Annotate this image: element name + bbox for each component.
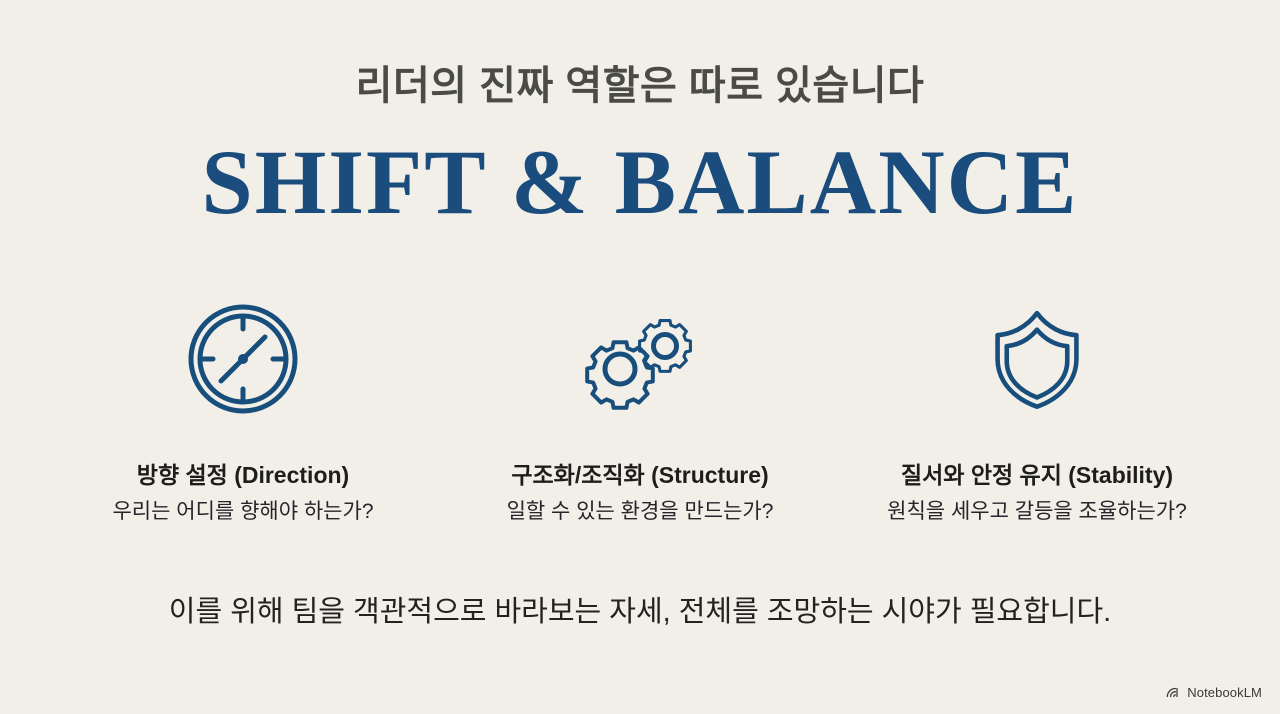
notebooklm-watermark: NotebookLM	[1165, 685, 1262, 700]
pillar-subtitle: 일할 수 있는 환경을 만드는가?	[507, 499, 774, 525]
slide-eyebrow: 리더의 진짜 역할은 따로 있습니다	[0, 62, 1280, 110]
pillar-stability: 질서와 안정 유지 (Stability) 원칙을 세우고 갈등을 조율하는가?	[854, 300, 1220, 525]
gears-icon	[570, 300, 710, 418]
pillar-row: 방향 설정 (Direction) 우리는 어디를 향해야 하는가?	[60, 300, 1220, 540]
pillar-title: 방향 설정 (Direction)	[137, 461, 349, 490]
slide-closing-statement: 이를 위해 팀을 객관적으로 바라보는 자세, 전체를 조망하는 시야가 필요합…	[0, 594, 1280, 632]
shield-icon	[982, 300, 1092, 418]
pillar-subtitle: 우리는 어디를 향해야 하는가?	[112, 499, 373, 525]
slide-headline: SHIFT & BALANCE	[0, 134, 1280, 231]
notebooklm-logo-icon	[1165, 686, 1181, 699]
pillar-direction: 방향 설정 (Direction) 우리는 어디를 향해야 하는가?	[60, 300, 426, 525]
notebooklm-label: NotebookLM	[1187, 685, 1262, 700]
pillar-title: 질서와 안정 유지 (Stability)	[901, 461, 1173, 490]
pillar-structure: 구조화/조직화 (Structure) 일할 수 있는 환경을 만드는가?	[457, 300, 823, 525]
compass-icon	[183, 300, 303, 418]
pillar-subtitle: 원칙을 세우고 갈등을 조율하는가?	[887, 499, 1187, 525]
slide-canvas: 리더의 진짜 역할은 따로 있습니다 SHIFT & BALANCE 방향 설정…	[0, 0, 1280, 714]
pillar-title: 구조화/조직화 (Structure)	[511, 461, 768, 490]
